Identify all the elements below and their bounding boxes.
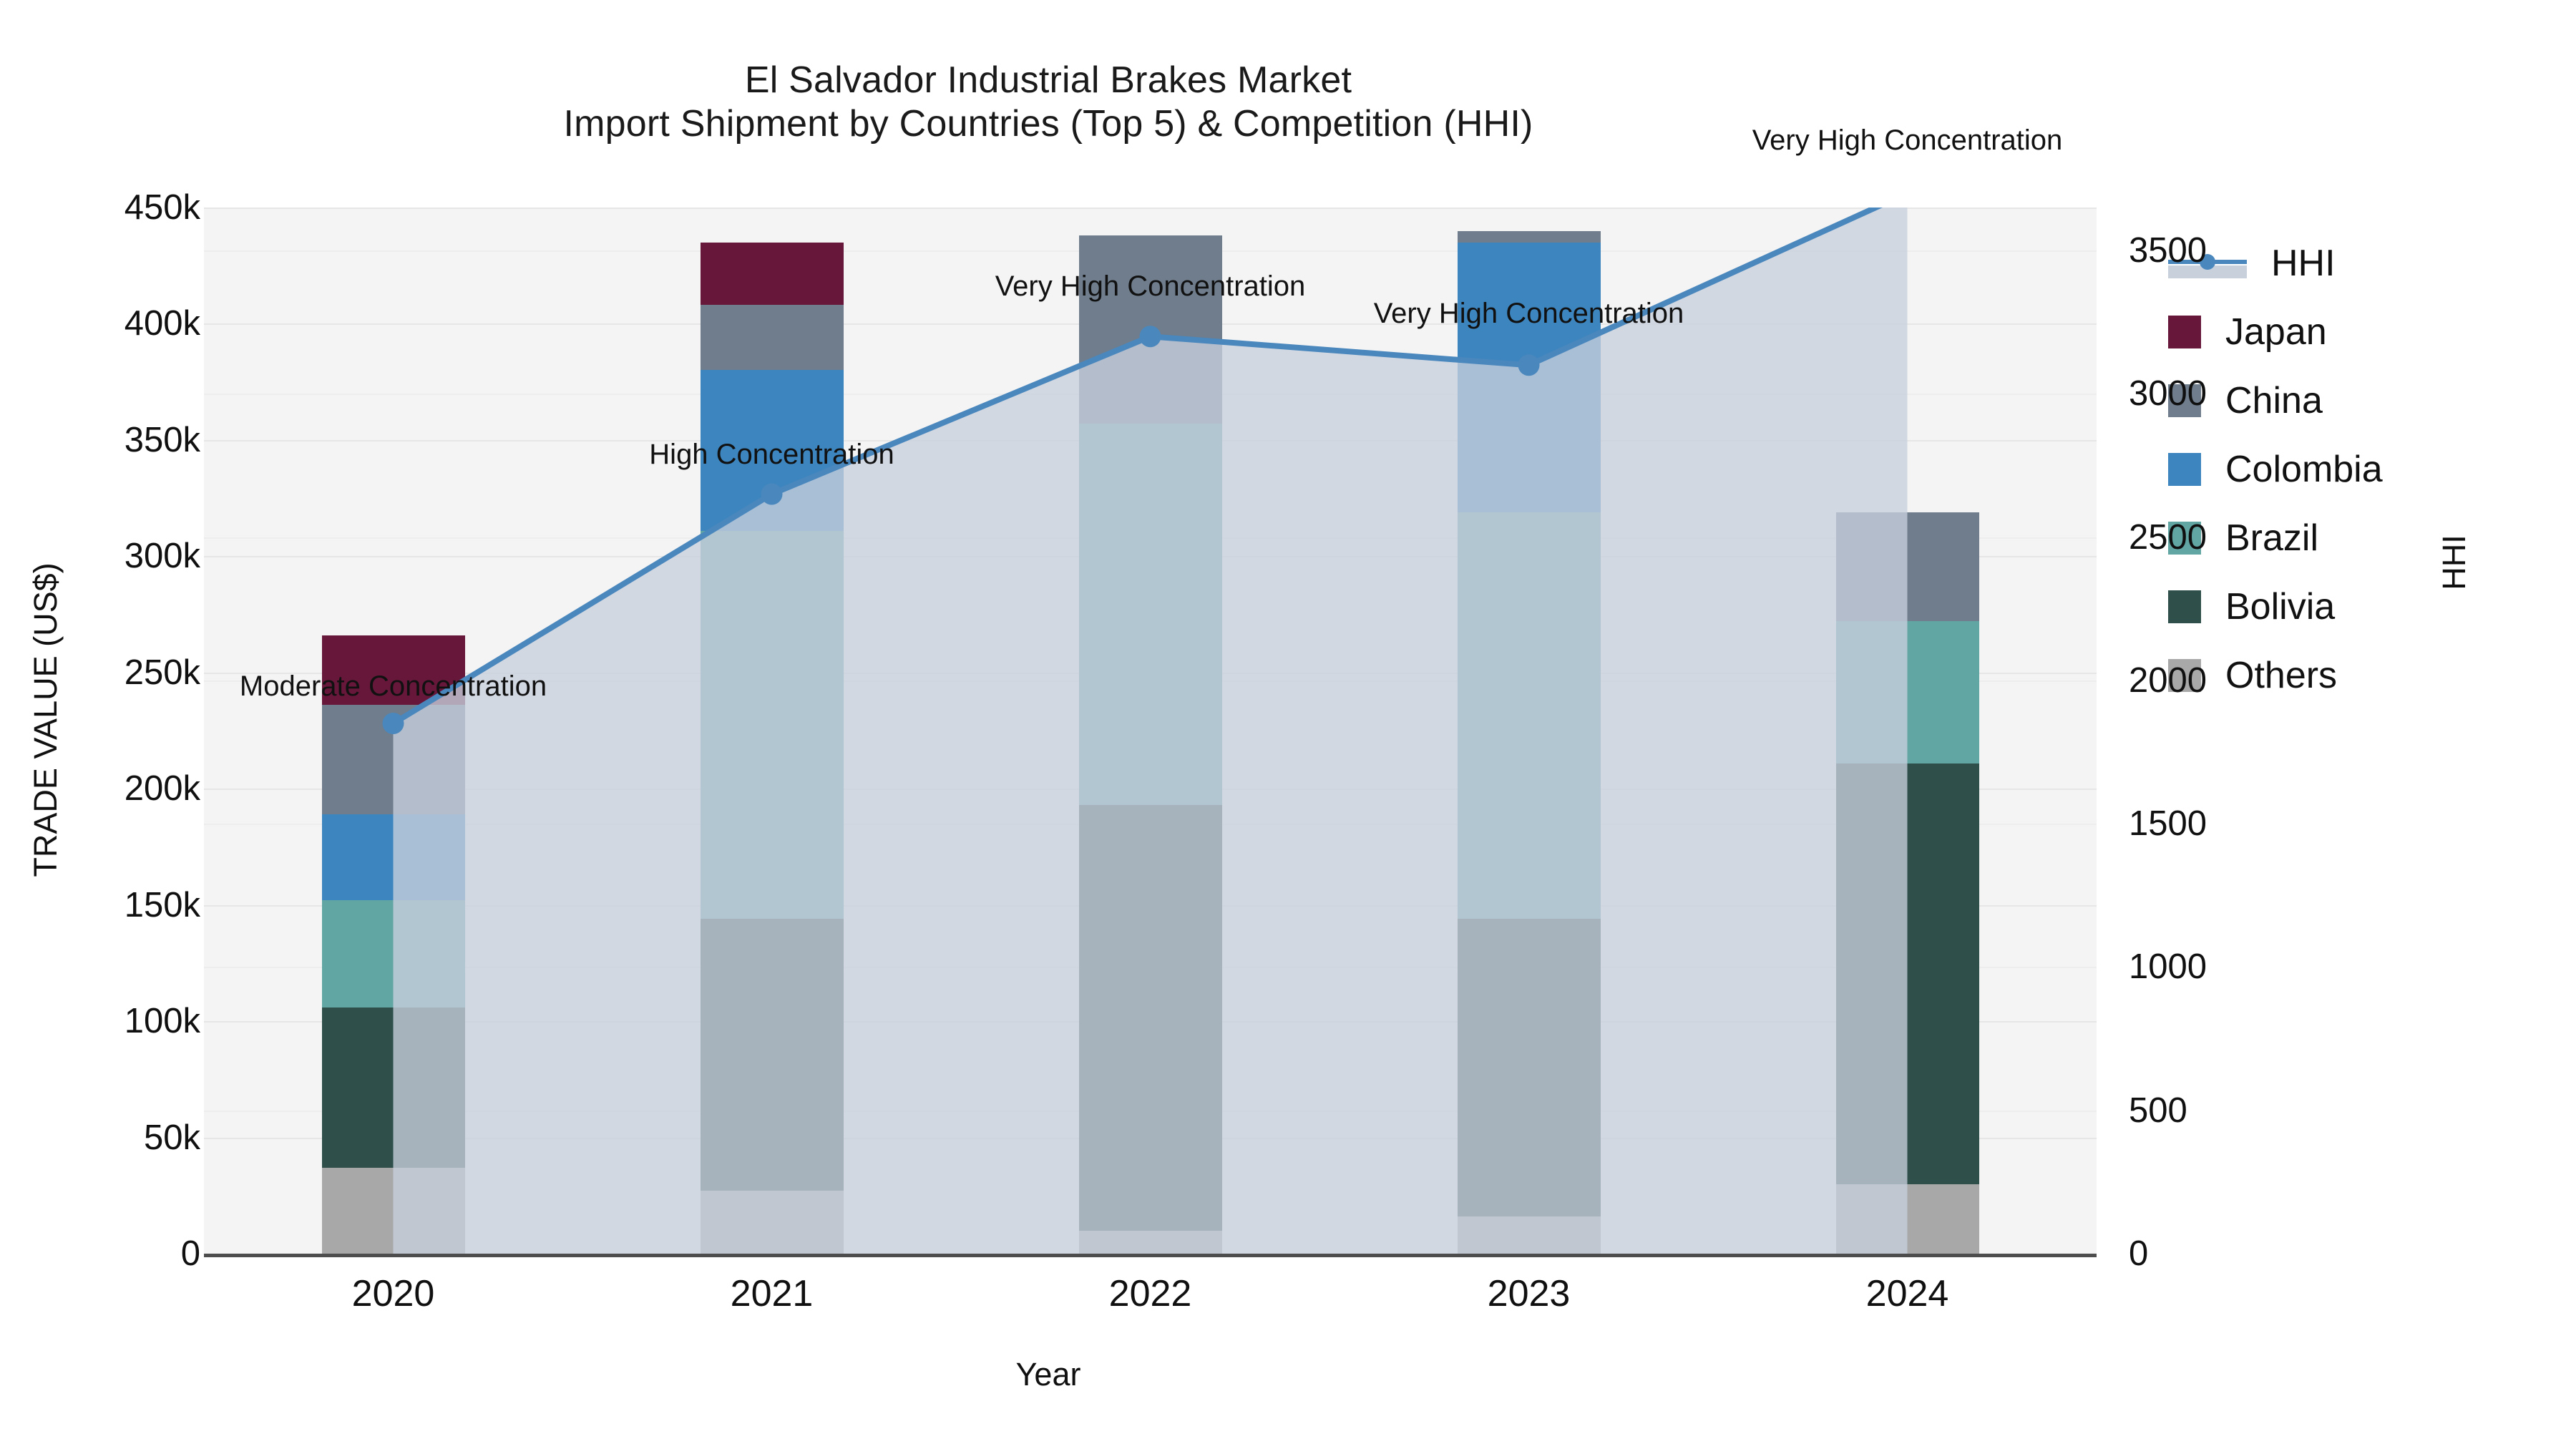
annotation-2022: Very High Concentration [995,270,1306,303]
x-axis-tick-label-2020: 2020 [250,1272,537,1315]
bar-segment-brazil[interactable] [322,900,465,1007]
y2-axis-tick-label: 1500 [2129,804,2358,844]
x-axis-tick-label-2024: 2024 [1765,1272,2051,1315]
legend-label: Bolivia [2225,585,2335,628]
chart-canvas: El Salvador Industrial Brakes Market Imp… [0,0,2576,1449]
bar-segment-china[interactable] [322,705,465,814]
y-axis-tick-label: 350k [0,420,200,460]
y-axis-tick-label: 0 [0,1234,200,1274]
y2-axis-tick-label: 2500 [2129,517,2358,557]
bar-segment-brazil[interactable] [1458,512,1601,919]
bar-segment-colombia[interactable] [1458,243,1601,512]
y2-axis-tick-label: 3000 [2129,374,2358,414]
y2-axis-tick-label: 3500 [2129,230,2358,270]
x-axis-tick-label-2022: 2022 [1008,1272,1294,1315]
y-axis-tick-label: 100k [0,1001,200,1041]
bar-segment-brazil[interactable] [1079,424,1222,805]
y2-axis-tick-label: 500 [2129,1091,2358,1131]
annotation-2021: High Concentration [649,439,894,471]
y-axis-tick-label: 450k [0,187,200,228]
chart-title-main: El Salvador Industrial Brakes Market [0,59,2097,102]
bar-segment-bolivia[interactable] [1079,805,1222,1231]
y-axis-tick-label: 200k [0,769,200,809]
bar-stack-2022[interactable] [1079,235,1222,1254]
y-axis-tick-label: 50k [0,1118,200,1158]
bar-segment-others[interactable] [322,1168,465,1254]
bar-segment-china[interactable] [1458,231,1601,243]
bar-segment-others[interactable] [1079,1231,1222,1254]
bar-stack-2020[interactable] [322,635,465,1254]
legend-label: Colombia [2225,448,2383,491]
legend-swatch-icon [2168,316,2201,348]
bar-segment-brazil[interactable] [1836,621,1979,763]
y2-axis-title: HHI [2436,491,2473,634]
bar-segment-colombia[interactable] [322,814,465,900]
bar-segment-bolivia[interactable] [1836,763,1979,1184]
y-axis-tick-label: 250k [0,653,200,693]
y2-axis-tick-label: 2000 [2129,660,2358,701]
annotation-2023: Very High Concentration [1374,298,1684,330]
legend-item-colombia[interactable]: Colombia [2168,435,2383,504]
legend-item-japan[interactable]: Japan [2168,298,2383,366]
x-axis-title: Year [0,1356,2097,1393]
bar-segment-bolivia[interactable] [322,1008,465,1168]
bar-stack-2021[interactable] [701,243,844,1254]
y-axis-tick-label: 150k [0,885,200,925]
legend-swatch-icon [2168,590,2201,623]
gridline [204,208,2097,209]
bar-stack-2023[interactable] [1458,231,1601,1254]
bar-segment-brazil[interactable] [701,531,844,919]
bar-segment-bolivia[interactable] [1458,919,1601,1216]
y-axis-tick-label: 300k [0,536,200,576]
x-axis-line [204,1254,2097,1257]
y-axis-tick-label: 400k [0,303,200,343]
legend-swatch-icon [2168,453,2201,486]
annotation-2020: Moderate Concentration [240,670,547,703]
bar-segment-others[interactable] [1836,1184,1979,1254]
y2-axis-tick-label: 0 [2129,1234,2358,1274]
x-axis-tick-label-2023: 2023 [1386,1272,1672,1315]
bar-stack-2024[interactable] [1836,512,1979,1254]
bar-segment-china[interactable] [1836,512,1979,622]
bar-segment-bolivia[interactable] [701,919,844,1191]
bar-segment-japan[interactable] [701,243,844,306]
legend-item-bolivia[interactable]: Bolivia [2168,572,2383,641]
annotation-2024: Very High Concentration [1752,125,2063,157]
bar-segment-others[interactable] [1458,1216,1601,1254]
x-axis-tick-label-2021: 2021 [629,1272,915,1315]
legend-label: Japan [2225,311,2327,353]
bar-segment-others[interactable] [701,1191,844,1254]
y2-axis-tick-label: 1000 [2129,947,2358,987]
chart-legend: HHIJapanChinaColombiaBrazilBoliviaOthers [2168,229,2383,710]
bar-segment-china[interactable] [701,305,844,370]
bar-segment-china[interactable] [1079,235,1222,424]
y-axis-title: TRADE VALUE (US$) [27,534,64,906]
plot-area [204,208,2097,1254]
